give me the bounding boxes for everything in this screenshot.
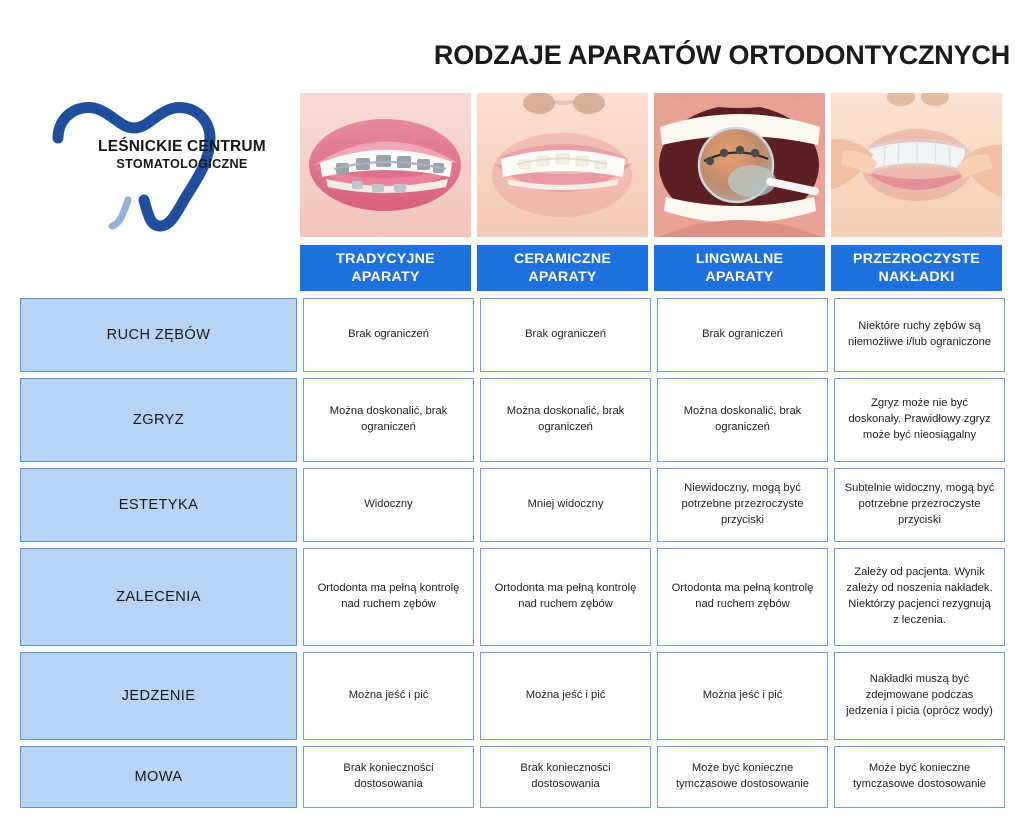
column-header-line-2: NAKŁADKI (878, 268, 954, 286)
logo-wordmark: LEŚNICKIE CENTRUM STOMATOLOGICZNE (74, 138, 290, 172)
page-title: RODZAJE APARATÓW ORTODONTYCZNYCH (300, 40, 1010, 71)
table-row: RUCH ZĘBÓW Brak ograniczeń Brak ogranicz… (18, 298, 1010, 372)
row-label-estetyka: ESTETYKA (20, 468, 297, 542)
cell-estetyka-lingwalne: Niewidoczny, mogą być potrzebne przezroc… (657, 468, 828, 542)
cell-zalecenia-tradycyjne: Ortodonta ma pełną kontrolę nad ruchem z… (303, 548, 474, 646)
column-header-line-1: LINGWALNE (696, 250, 783, 268)
table-row: MOWA Brak konieczności dostosowania Brak… (18, 746, 1010, 808)
column-header-line-1: TRADYCYJNE (336, 250, 435, 268)
logo-line-1: LEŚNICKIE CENTRUM (74, 138, 290, 155)
table-row: JEDZENIE Można jeść i pić Można jeść i p… (18, 652, 1010, 740)
cell-zalecenia-przezroczyste: Zależy od pacjenta. Wynik zależy od nosz… (834, 548, 1005, 646)
clinic-logo: LEŚNICKIE CENTRUM STOMATOLOGICZNE (36, 96, 290, 236)
cell-estetyka-tradycyjne: Widoczny (303, 468, 474, 542)
column-header-line-1: CERAMICZNE (514, 250, 611, 268)
logo-line-2: STOMATOLOGICZNE (74, 158, 290, 172)
column-header-line-1: PRZEZROCZYSTE (853, 250, 980, 268)
cell-estetyka-ceramiczne: Mniej widoczny (480, 468, 651, 542)
metal-braces-photo (300, 93, 471, 237)
cell-mowa-tradycyjne: Brak konieczności dostosowania (303, 746, 474, 808)
photo-strip (300, 93, 1010, 237)
row-label-mowa: MOWA (20, 746, 297, 808)
table-row: ZGRYZ Można doskonalić, brak ograniczeń … (18, 378, 1010, 462)
cell-jedzenie-przezroczyste: Nakładki muszą być zdejmowane podczas je… (834, 652, 1005, 740)
cell-mowa-przezroczyste: Może być konieczne tymczasowe dostosowan… (834, 746, 1005, 808)
cell-zalecenia-ceramiczne: Ortodonta ma pełną kontrolę nad ruchem z… (480, 548, 651, 646)
row-label-ruch-zebow: RUCH ZĘBÓW (20, 298, 297, 372)
column-header-tradycyjne[interactable]: TRADYCYJNE APARATY (300, 245, 471, 291)
column-headers: TRADYCYJNE APARATY CERAMICZNE APARATY LI… (300, 245, 1010, 291)
column-header-ceramiczne[interactable]: CERAMICZNE APARATY (477, 245, 648, 291)
cell-estetyka-przezroczyste: Subtelnie widoczny, mogą być potrzebne p… (834, 468, 1005, 542)
column-header-line-2: APARATY (528, 268, 596, 286)
cell-zgryz-tradycyjne: Można doskonalić, brak ograniczeń (303, 378, 474, 462)
table-row: ESTETYKA Widoczny Mniej widoczny Niewido… (18, 468, 1010, 542)
cell-zgryz-przezroczyste: Zgryz może nie być doskonały. Prawidłowy… (834, 378, 1005, 462)
column-header-lingwalne[interactable]: LINGWALNE APARATY (654, 245, 825, 291)
cell-ruch-zebow-lingwalne: Brak ograniczeń (657, 298, 828, 372)
cell-ruch-zebow-tradycyjne: Brak ograniczeń (303, 298, 474, 372)
cell-jedzenie-lingwalne: Można jeść i pić (657, 652, 828, 740)
table-row: ZALECENIA Ortodonta ma pełną kontrolę na… (18, 548, 1010, 646)
row-label-zgryz: ZGRYZ (20, 378, 297, 462)
cell-mowa-ceramiczne: Brak konieczności dostosowania (480, 746, 651, 808)
cell-mowa-lingwalne: Może być konieczne tymczasowe dostosowan… (657, 746, 828, 808)
column-header-przezroczyste[interactable]: PRZEZROCZYSTE NAKŁADKI (831, 245, 1002, 291)
comparison-table: RUCH ZĘBÓW Brak ograniczeń Brak ogranicz… (18, 298, 1010, 814)
row-label-jedzenie: JEDZENIE (20, 652, 297, 740)
cell-ruch-zebow-przezroczyste: Niektóre ruchy zębów są niemożliwe i/lub… (834, 298, 1005, 372)
column-header-line-2: APARATY (351, 268, 419, 286)
cell-jedzenie-tradycyjne: Można jeść i pić (303, 652, 474, 740)
lingual-braces-photo (654, 93, 825, 237)
row-label-zalecenia: ZALECENIA (20, 548, 297, 646)
ceramic-braces-photo (477, 93, 648, 237)
cell-zalecenia-lingwalne: Ortodonta ma pełną kontrolę nad ruchem z… (657, 548, 828, 646)
cell-ruch-zebow-ceramiczne: Brak ograniczeń (480, 298, 651, 372)
clear-aligner-photo (831, 93, 1002, 237)
cell-zgryz-lingwalne: Można doskonalić, brak ograniczeń (657, 378, 828, 462)
cell-jedzenie-ceramiczne: Można jeść i pić (480, 652, 651, 740)
cell-zgryz-ceramiczne: Można doskonalić, brak ograniczeń (480, 378, 651, 462)
infographic-page: RODZAJE APARATÓW ORTODONTYCZNYCH LEŚNICK… (0, 0, 1024, 820)
column-header-line-2: APARATY (705, 268, 773, 286)
